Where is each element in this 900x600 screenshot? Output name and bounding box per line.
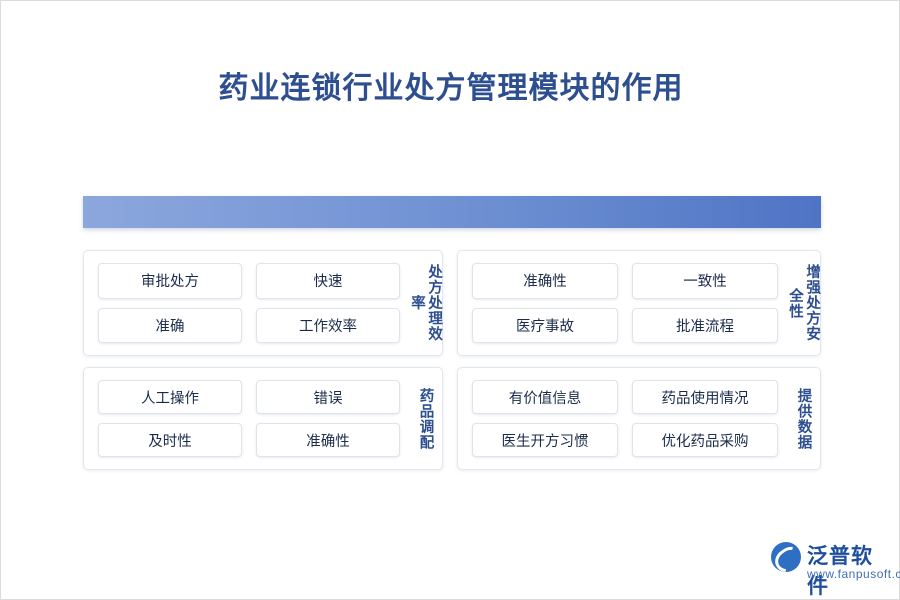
brand-url: www.fanpusoft.com [807,567,900,581]
chip-item[interactable]: 及时性 [98,423,242,457]
panel-vertical-label: 增强处方安全性 [786,251,820,355]
slide-canvas: 药业连锁行业处方管理模块的作用 审批处方 快速 准确 工作效率 处方处理效率 准… [0,0,900,600]
panel-chip-group: 有价值信息 药品使用情况 医生开方习惯 优化药品采购 [458,368,786,469]
panel-label-text: 药品调配 [416,388,433,450]
panel-vertical-label: 提供数据 [786,368,820,469]
chip-item[interactable]: 快速 [256,263,400,299]
panel-vertical-label: 药品调配 [408,368,442,469]
chip-item[interactable]: 优化药品采购 [632,423,778,457]
chip-item[interactable]: 审批处方 [98,263,242,299]
header-banner-bar [83,196,821,228]
chip-item[interactable]: 批准流程 [632,308,778,344]
panel-prescription-safety: 准确性 一致性 医疗事故 批准流程 增强处方安全性 [457,250,821,356]
panel-processing-efficiency: 审批处方 快速 准确 工作效率 处方处理效率 [83,250,443,356]
brand-logo: 泛普软件 www.fanpusoft.com [771,540,885,586]
panel-drug-dispensing: 人工操作 错误 及时性 准确性 药品调配 [83,367,443,470]
panel-chip-group: 审批处方 快速 准确 工作效率 [84,251,408,355]
chip-item[interactable]: 医生开方习惯 [472,423,618,457]
content-grid: 审批处方 快速 准确 工作效率 处方处理效率 准确性 一致性 医疗事故 批准流程… [83,250,821,470]
chip-item[interactable]: 药品使用情况 [632,380,778,414]
chip-item[interactable]: 准确性 [472,263,618,299]
fanpu-logo-icon [771,542,801,572]
chip-item[interactable]: 一致性 [632,263,778,299]
panel-label-text: 提供数据 [794,388,811,450]
panel-label-text: 增强处方安全性 [786,257,820,349]
chip-item[interactable]: 准确 [98,308,242,344]
chip-item[interactable]: 医疗事故 [472,308,618,344]
chip-item[interactable]: 错误 [256,380,400,414]
chip-item[interactable]: 准确性 [256,423,400,457]
panel-provide-data: 有价值信息 药品使用情况 医生开方习惯 优化药品采购 提供数据 [457,367,821,470]
chip-item[interactable]: 工作效率 [256,308,400,344]
panel-chip-group: 人工操作 错误 及时性 准确性 [84,368,408,469]
panel-vertical-label: 处方处理效率 [408,251,442,355]
swoosh-shape [771,542,801,572]
panel-chip-group: 准确性 一致性 医疗事故 批准流程 [458,251,786,355]
page-title: 药业连锁行业处方管理模块的作用 [1,63,900,107]
chip-item[interactable]: 有价值信息 [472,380,618,414]
chip-item[interactable]: 人工操作 [98,380,242,414]
panel-label-text: 处方处理效率 [408,257,442,349]
